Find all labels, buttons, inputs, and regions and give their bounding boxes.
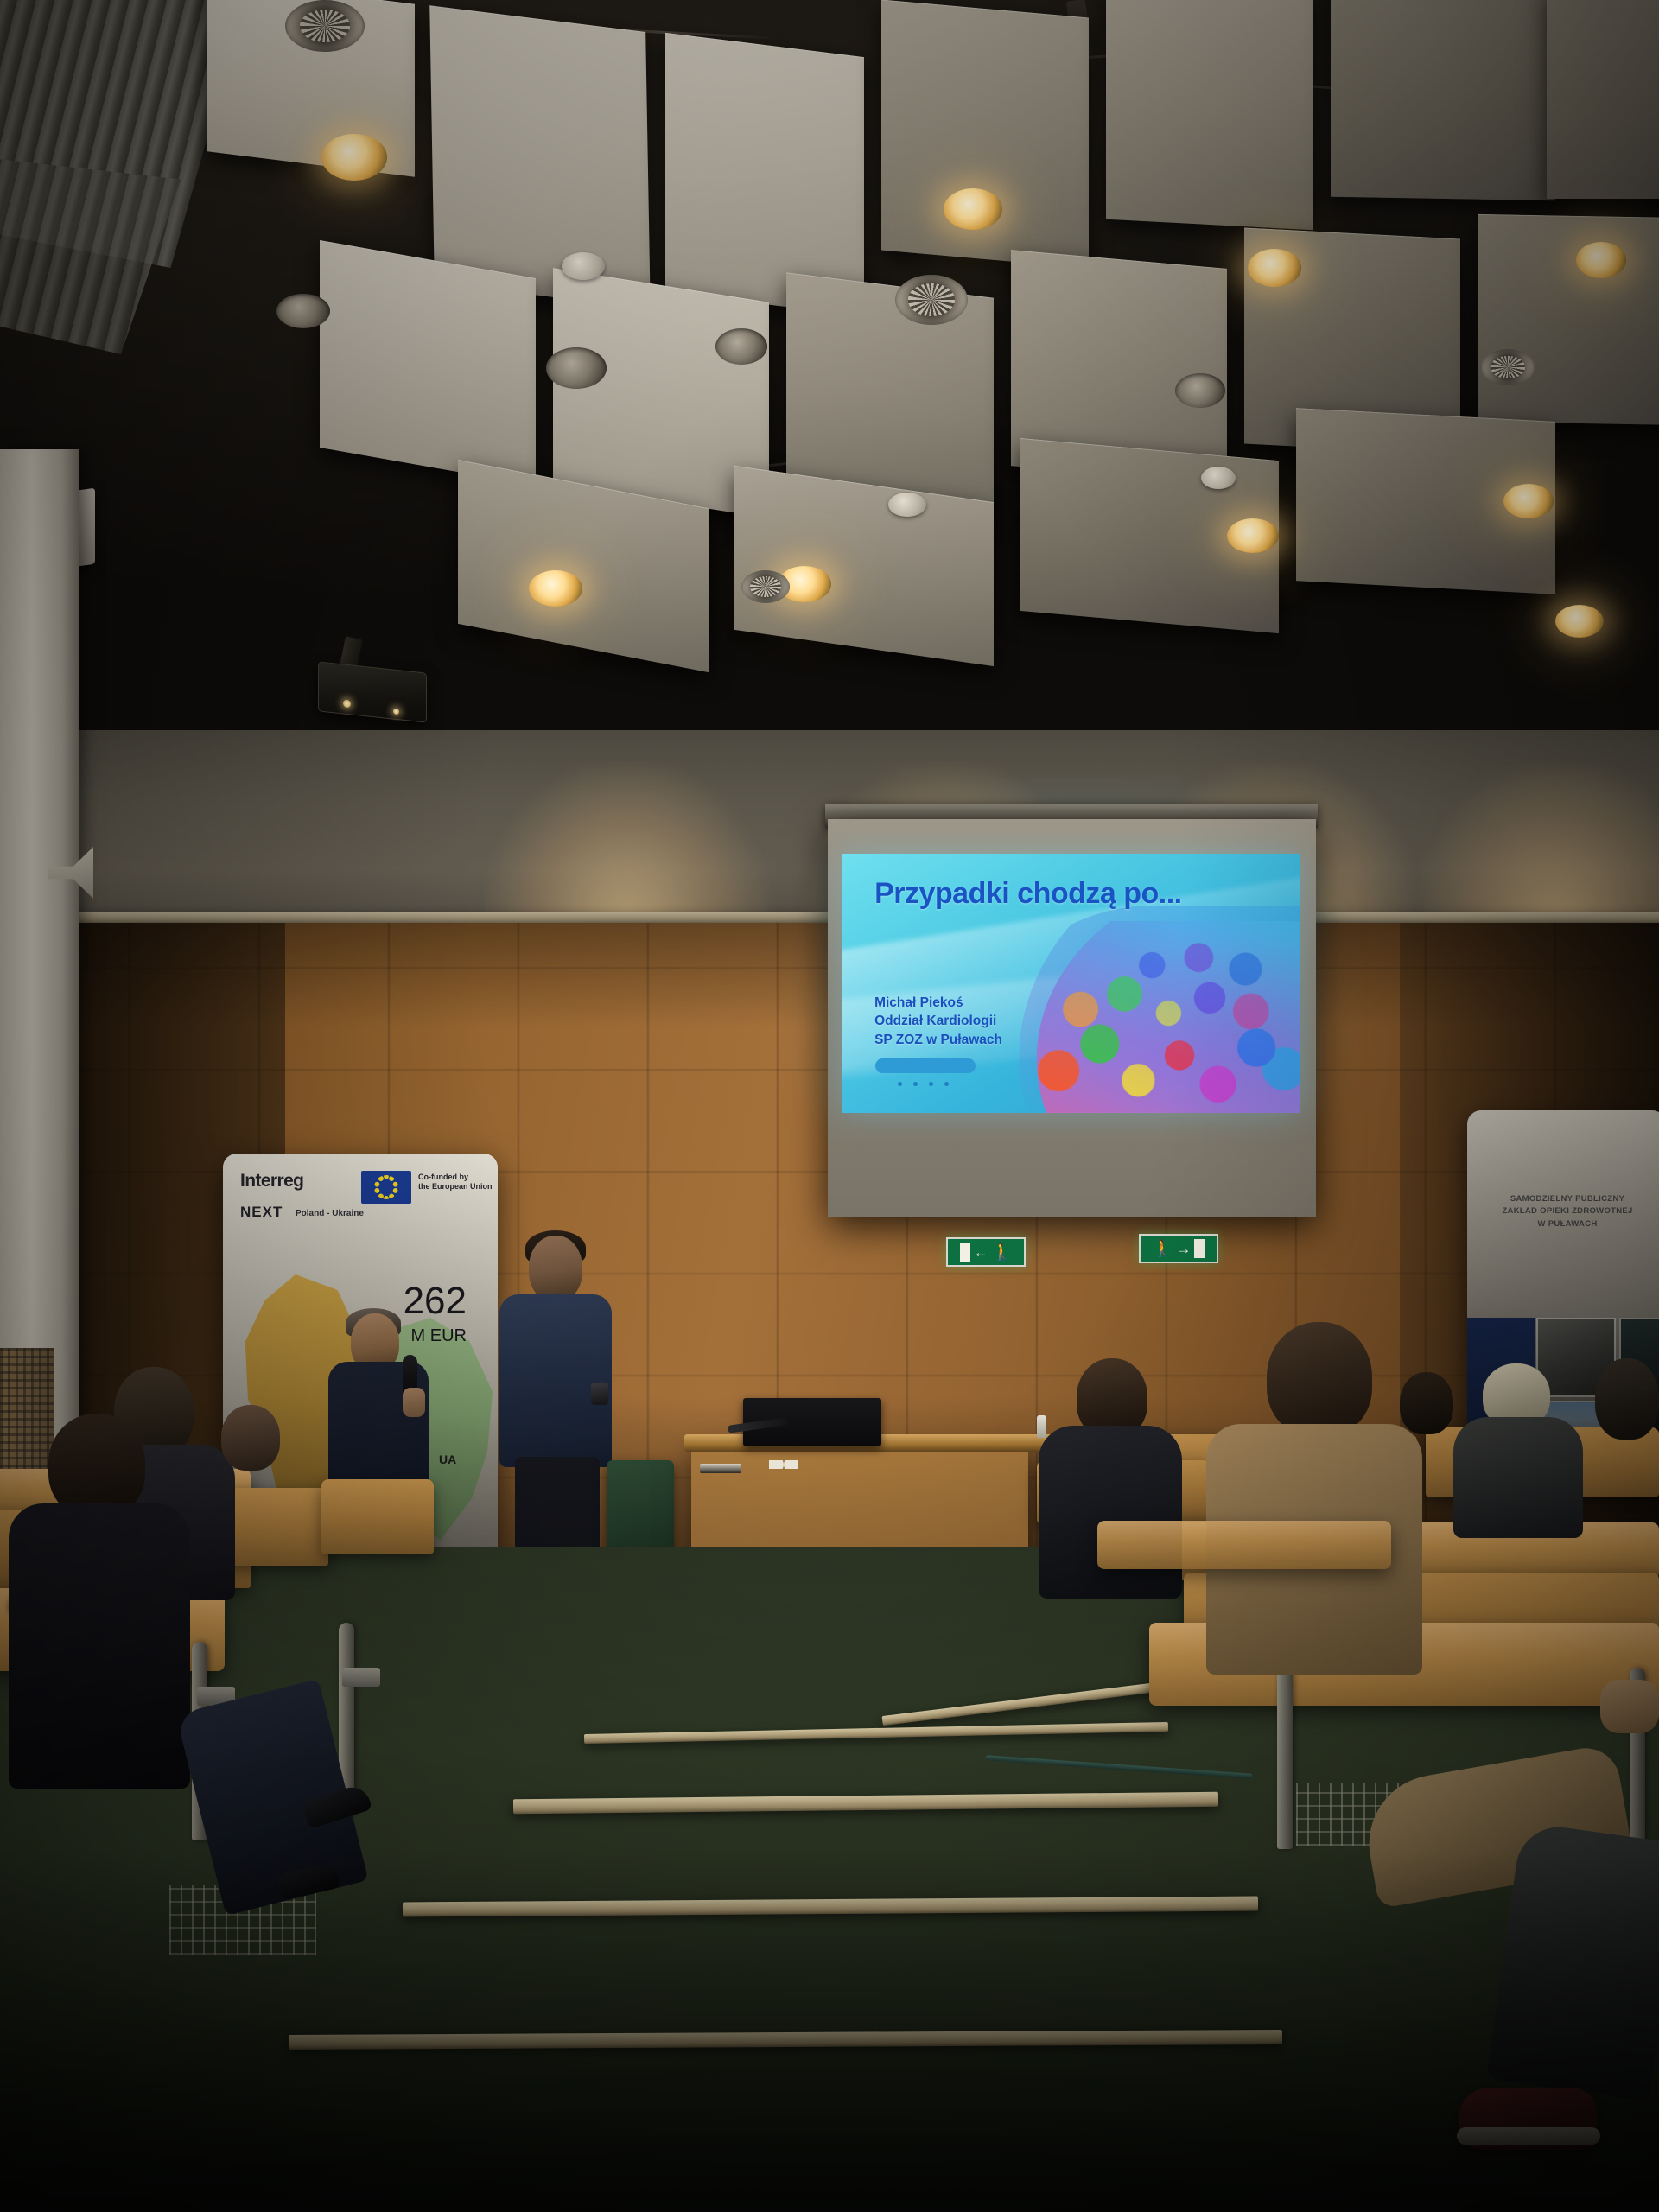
- audience-body: [1039, 1426, 1182, 1599]
- ceiling-panel: [320, 240, 536, 486]
- interreg-logo: Interreg: [240, 1171, 303, 1192]
- ceiling-downlight-icon: [529, 570, 582, 607]
- eu-cofund-line2: the European Union: [418, 1182, 496, 1192]
- ceiling-downlight-icon: [546, 347, 607, 389]
- ceiling-downlight-icon: [715, 328, 767, 365]
- slide-author-name: Michał Piekoś: [874, 994, 1002, 1012]
- slide-accent-bar: [875, 1058, 976, 1073]
- eu-cofund-line1: Co-funded by: [418, 1173, 496, 1182]
- audience-head: [1400, 1372, 1453, 1434]
- ceiling-downlight-icon: [1248, 249, 1301, 287]
- ceiling-panel: [1547, 0, 1659, 199]
- ceiling-panel: [429, 5, 651, 309]
- foreground-person-sneaker-sole: [1457, 2127, 1600, 2145]
- desk-bracket: [342, 1668, 380, 1687]
- exit-sign-left: ← 🚶: [946, 1237, 1026, 1267]
- air-diffuser-icon: [741, 570, 790, 603]
- ceiling-downlight-icon: [944, 188, 1002, 230]
- exit-sign-right: 🚶 →: [1139, 1234, 1218, 1263]
- audience-body: [1453, 1417, 1583, 1538]
- ceiling-downlight-icon: [1555, 605, 1604, 638]
- ceiling-zone: [0, 0, 1659, 778]
- audience-head: [48, 1414, 145, 1517]
- eu-cofunding-text: Co-funded by the European Union: [418, 1173, 496, 1192]
- ceiling-downlight-icon: [1503, 484, 1554, 518]
- smoke-detector-icon: [562, 252, 605, 280]
- audience-desk-panel: [321, 1479, 434, 1554]
- eu-flag-icon: [361, 1171, 411, 1204]
- ceiling-downlight-icon: [1175, 373, 1225, 408]
- projector-lens-icon: [343, 699, 351, 708]
- smoke-detector-icon: [1201, 467, 1236, 489]
- foreground-person-hand: [1600, 1680, 1659, 1733]
- slide-dot: [898, 1082, 902, 1086]
- wall-wash-light: [484, 765, 769, 929]
- programme-name: NEXT: [240, 1204, 283, 1221]
- eyeglasses-icon: [769, 1460, 798, 1469]
- smoke-detector-icon: [888, 493, 926, 517]
- exit-door-icon: [1194, 1239, 1205, 1258]
- notebook-on-desk: [700, 1464, 741, 1473]
- air-diffuser-icon: [1481, 349, 1535, 385]
- slide-title: Przypadki chodzą po...: [874, 877, 1182, 911]
- desk-support-post: [1277, 1668, 1293, 1849]
- slide-dot-row: [898, 1082, 949, 1086]
- ceiling-panel: [665, 33, 864, 316]
- slide-dot: [913, 1082, 918, 1086]
- audience-head: [221, 1405, 280, 1471]
- speaker-hand: [403, 1388, 425, 1417]
- funding-amount-unit: M EUR: [411, 1326, 467, 1346]
- wall-wash-light: [1417, 765, 1659, 929]
- hospital-banner-title: SAMODZIELNY PUBLICZNY ZAKŁAD OPIEKI ZDRO…: [1483, 1193, 1652, 1230]
- presenter-clicker: [591, 1382, 608, 1405]
- slide-dot: [944, 1082, 949, 1086]
- air-diffuser-icon: [895, 275, 968, 325]
- slide-dot: [929, 1082, 933, 1086]
- ceiling-downlight-icon: [321, 134, 387, 181]
- presenter-head: [529, 1236, 582, 1301]
- funding-amount: 262: [404, 1283, 467, 1319]
- ceiling-panel: [881, 0, 1089, 268]
- presenter-shirt-torso: [499, 1294, 612, 1467]
- eu-stars-icon: [374, 1175, 398, 1199]
- projected-slide[interactable]: Przypadki chodzą po... Michał Piekoś Odd…: [842, 854, 1300, 1113]
- ceiling-panel: [1106, 0, 1313, 230]
- hospital-title-line1: SAMODZIELNY PUBLICZNY: [1483, 1193, 1652, 1205]
- slide-author-org: SP ZOZ w Puławach: [874, 1031, 1002, 1049]
- water-bottle-icon: [1037, 1415, 1046, 1438]
- exit-door-icon: [960, 1243, 970, 1262]
- ceiling-panel: [1331, 0, 1555, 200]
- audience-head: [1267, 1322, 1372, 1436]
- exit-arrow-right-icon: →: [1176, 1242, 1191, 1256]
- air-diffuser-icon: [285, 0, 365, 52]
- projector-indicator-icon: [393, 709, 399, 715]
- lecture-hall-scene: Przypadki chodzą po... Michał Piekoś Odd…: [0, 0, 1659, 2212]
- running-man-icon: 🚶: [1153, 1241, 1173, 1257]
- audience-desk-top: [1097, 1521, 1391, 1569]
- programme-countries: Poland - Ukraine: [296, 1209, 364, 1218]
- running-man-icon: 🚶: [992, 1244, 1013, 1261]
- ceiling-downlight-icon: [1576, 242, 1626, 278]
- slide-author-dept: Oddział Kardiologii: [874, 1012, 1002, 1030]
- ceiling-panel: [1478, 214, 1659, 425]
- exit-arrow-left-icon: ←: [974, 1245, 988, 1260]
- slide-author-block: Michał Piekoś Oddział Kardiologii SP ZOZ…: [874, 994, 1002, 1049]
- audience-body: [9, 1503, 190, 1789]
- hospital-title-line3: W PUŁAWACH: [1483, 1218, 1652, 1230]
- ceiling-downlight-icon: [1227, 518, 1279, 553]
- map-label-ua: UA: [439, 1452, 456, 1466]
- audience-head: [1595, 1358, 1659, 1440]
- ceiling-downlight-icon: [276, 294, 330, 328]
- hospital-title-line2: ZAKŁAD OPIEKI ZDROWOTNEJ: [1483, 1205, 1652, 1217]
- conference-chair-back[interactable]: [607, 1460, 674, 1555]
